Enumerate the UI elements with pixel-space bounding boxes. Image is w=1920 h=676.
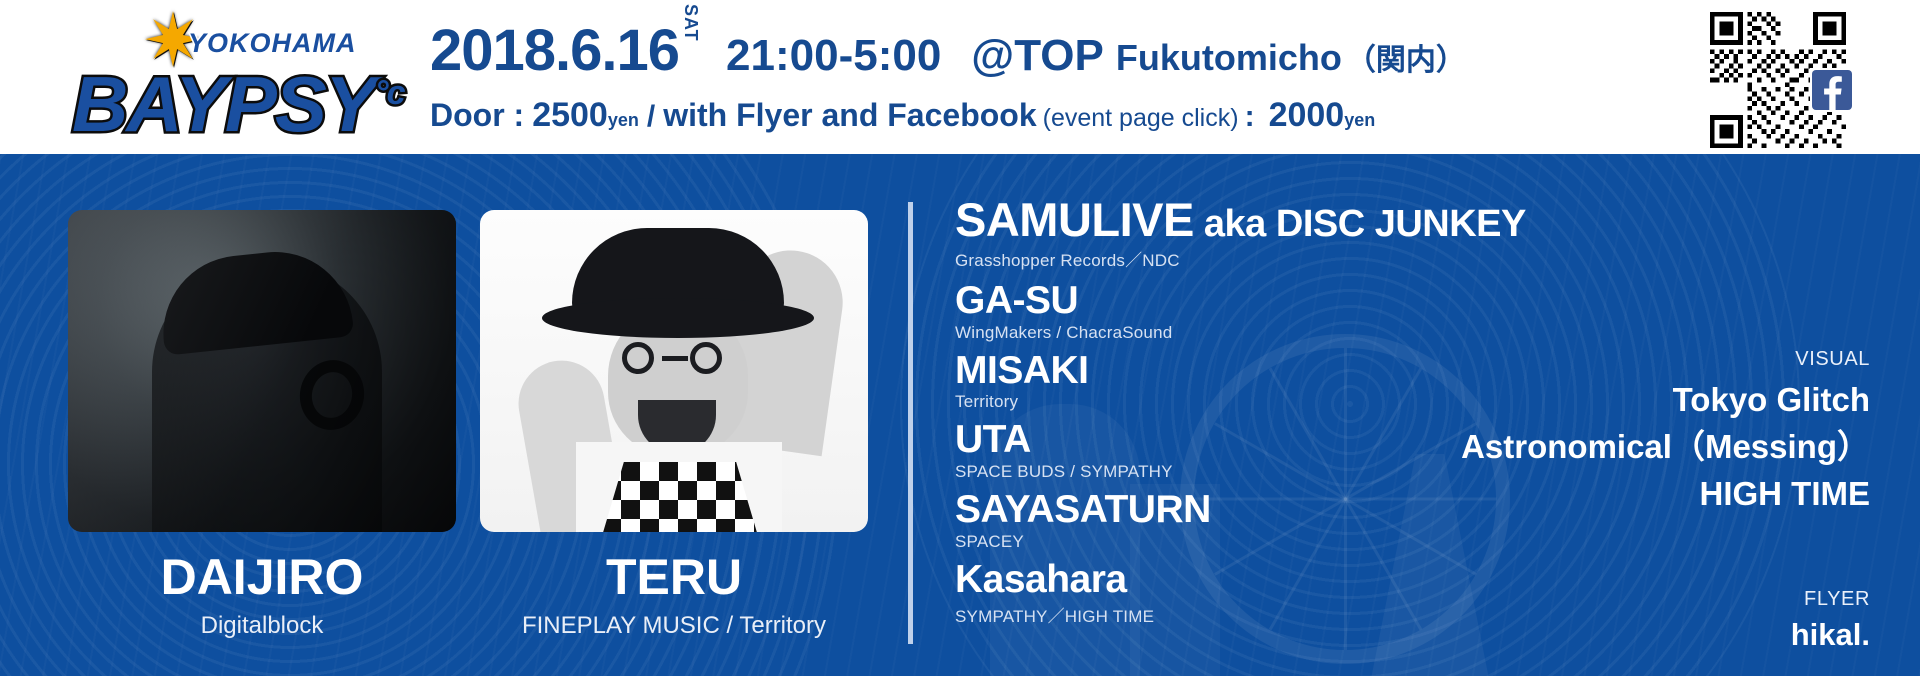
event-time: 21:00-5:00 <box>726 34 941 78</box>
lineup-artist-label: Grasshopper Records／NDC <box>955 246 1675 271</box>
vertical-divider <box>908 202 913 644</box>
artist-affiliation-teru: FINEPLAY MUSIC / Territory <box>480 612 868 640</box>
discount-price-amount: 2000 <box>1269 96 1345 135</box>
event-date: 2018.6.16 <box>430 22 679 80</box>
artist-name-teru: TERU <box>480 548 868 606</box>
flyer-heading: FLYER <box>1350 588 1870 611</box>
event-datetime-line: 2018.6.16 SAT 21:00-5:00 @TOP Fukutomich… <box>430 22 1466 80</box>
logo-main-word: BAYPSY <box>72 60 375 148</box>
lineup-artist-name: SAMULIVE <box>955 193 1194 246</box>
lineup-artist-label: SPACEY <box>955 532 1675 552</box>
visual-credit-item: HIGH TIME <box>1350 471 1870 518</box>
door-price-amount: 2500 <box>532 96 608 135</box>
baypsy-logo: ✷ YOKOHAMA BAYPSY°c <box>52 6 372 146</box>
event-weekday: SAT <box>682 4 700 42</box>
visual-credit-item: Astronomical（Messing） <box>1350 424 1870 471</box>
discount-condition-label: with Flyer and Facebook <box>663 97 1036 134</box>
flyer-header: ✷ YOKOHAMA BAYPSY°c 2018.6.16 SAT 21:00-… <box>0 0 1920 154</box>
logo-degree-mark: °c <box>375 74 404 112</box>
door-price-label: Door : <box>430 97 524 134</box>
visual-credits: VISUAL Tokyo Glitch Astronomical（Messing… <box>1350 348 1870 518</box>
flyer-credits: FLYER hikal. <box>1350 588 1870 653</box>
event-venue-at: @TOP <box>971 34 1104 78</box>
flyer-credit-item: hikal. <box>1350 617 1870 653</box>
qr-code[interactable] <box>1688 6 1868 154</box>
artist-affiliation-daijiro: Digitalblock <box>68 612 456 640</box>
discount-note: (event page click) <box>1043 104 1239 133</box>
artist-name-daijiro: DAIJIRO <box>68 548 456 606</box>
artist-photo-teru <box>480 210 868 532</box>
door-price-unit: yen <box>608 110 639 131</box>
lineup-artist-name: GA-SU <box>955 279 1078 322</box>
lineup-item: SAMULIVE aka DISC JUNKEY Grasshopper Rec… <box>955 196 1675 271</box>
logo-baypsy-text: BAYPSY°c <box>72 50 404 147</box>
price-separator: / <box>647 100 655 134</box>
event-venue-name: Fukutomicho <box>1116 40 1342 76</box>
price-line: Door : 2500 yen / with Flyer and Faceboo… <box>430 96 1375 135</box>
lineup-artist-name: SAYASATURN <box>955 488 1211 531</box>
visual-heading: VISUAL <box>1350 348 1870 371</box>
lineup-item: GA-SU WingMakers / ChacraSound <box>955 281 1675 343</box>
artist-photo-daijiro <box>68 210 456 532</box>
lineup-artist-aka: aka DISC JUNKEY <box>1194 203 1526 245</box>
lineup-artist-label: WingMakers / ChacraSound <box>955 323 1675 343</box>
visual-credit-item: Tokyo Glitch <box>1350 377 1870 424</box>
event-flyer: ✷ YOKOHAMA BAYPSY°c 2018.6.16 SAT 21:00-… <box>0 0 1920 676</box>
lineup-artist-name: UTA <box>955 418 1031 461</box>
lineup-artist-name: MISAKI <box>955 349 1089 392</box>
facebook-icon[interactable] <box>1810 68 1854 112</box>
lineup-artist-name: Kasahara <box>955 558 1127 601</box>
discount-price-unit: yen <box>1344 110 1375 131</box>
event-venue-area: （関内） <box>1346 46 1466 76</box>
facebook-glyph-icon <box>1812 70 1852 110</box>
discount-colon: : <box>1245 100 1255 134</box>
